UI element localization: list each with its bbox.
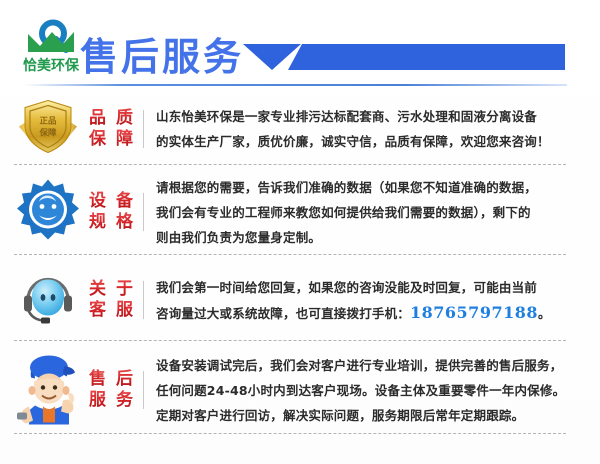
section-label-equipment: 设 备 规 格 [88, 172, 136, 252]
section-label-service: 关 于 客 服 [88, 262, 136, 338]
gold-shield-quality-icon: 正品 保障 [12, 96, 84, 162]
section-label-line-2: 客 服 [89, 300, 135, 321]
section-body-equipment: 请根据您的需要，告诉我们准确的数据（如果您不知道准确的数据， 我们会有专业的工程… [156, 172, 568, 252]
section-label-line-1: 设 备 [89, 191, 135, 212]
section-label-line-2: 服 务 [89, 390, 135, 411]
section-equipment-spec: 设 备 规 格 请根据您的需要，告诉我们准确的数据（如果您不知道准确的数据， 我… [0, 172, 600, 252]
label-text-divider [143, 281, 144, 319]
section-divider [14, 164, 566, 165]
logo-company-name: 恰美环保 [14, 56, 88, 76]
section-divider [14, 340, 566, 341]
phone-suffix: 。 [538, 306, 551, 321]
label-text-divider [143, 110, 144, 148]
body-line: 我们会有专业的工程师来教您如何提供给我们需要的数据），剩下的 [156, 200, 568, 225]
section-label-line-1: 关 于 [89, 279, 135, 300]
contact-phone-number[interactable]: 18765797188 [410, 303, 538, 322]
blue-accent-bar [288, 44, 565, 70]
body-line: 定期对客户进行回访，解决实际问题，服务期限后常年定期跟踪。 [156, 403, 568, 428]
body-line: 请根据您的需要，告诉我们准确的数据（如果您不知道准确的数据， [156, 175, 568, 200]
headset-customer-service-icon [12, 262, 84, 338]
svg-text:正品: 正品 [39, 117, 57, 127]
worker-thumbs-up-icon [12, 348, 84, 432]
section-divider [14, 433, 566, 434]
section-body-service: 我们会第一时间给您回复，如果您的咨询没能及时回复，可能由当前 咨询量过大或系统故… [156, 262, 568, 338]
page-title: 售后服务 [80, 26, 244, 81]
section-body-after-sales: 设备安装调试完后，我们会对客户进行专业培训，提供完善的售后服务， 任何问题24-… [156, 348, 568, 432]
section-label-after-sales: 售 后 服 务 [88, 348, 136, 432]
body-line-text: 咨询量过大或系统故障，也可直接拨打手机： [156, 306, 410, 321]
section-body-quality: 山东怡美环保是一家专业排污达标配套商、污水处理和固液分离设备 的实体生产厂家，质… [156, 96, 568, 162]
body-line: 山东怡美环保是一家专业排污达标配套商、污水处理和固液分离设备 [156, 104, 568, 129]
label-text-divider [143, 193, 144, 231]
section-divider [14, 254, 566, 255]
body-line: 任何问题24-48小时内到达客户现场。设备主体及重要零件一年内保修。 [156, 378, 568, 403]
section-label-line-2: 保 障 [89, 129, 135, 150]
body-line: 设备安装调试完后，我们会对客户进行专业培训，提供完善的售后服务， [156, 353, 568, 378]
label-text-divider [143, 371, 144, 409]
section-label-line-1: 售 后 [89, 369, 135, 390]
company-logo: 恰美环保 [14, 12, 88, 80]
section-label-line-2: 规 格 [89, 212, 135, 233]
page-header: 恰美环保 售后服务 [0, 0, 600, 92]
section-customer-service: 关 于 客 服 我们会第一时间给您回复，如果您的咨询没能及时回复，可能由当前 咨… [0, 262, 600, 338]
header-underline [24, 84, 567, 86]
section-quality-guarantee: 正品 保障 品 质 保 障 山东怡美环保是一家专业排污达标配套商、污水处理和固液… [0, 96, 600, 162]
svg-text:保障: 保障 [38, 128, 57, 139]
after-sales-service-banner: 恰美环保 售后服务 [0, 0, 600, 464]
section-after-sales: 售 后 服 务 设备安装调试完后，我们会对客户进行专业培训，提供完善的售后服务，… [0, 348, 600, 432]
section-label-line-1: 品 质 [89, 108, 135, 129]
qm-monogram-logo-icon [20, 12, 82, 56]
body-line: 我们会第一时间给您回复，如果您的咨询没能及时回复，可能由当前 [156, 275, 568, 300]
section-label-quality: 品 质 保 障 [88, 96, 136, 162]
body-line: 的实体生产厂家，质优价廉，诚实守信，品质有保障，欢迎您来咨询！ [156, 129, 568, 154]
blue-gear-specification-icon [12, 172, 84, 252]
body-line-with-phone: 咨询量过大或系统故障，也可直接拨打手机：18765797188。 [156, 300, 568, 326]
body-line: 则由我们负责为您量身定制。 [156, 225, 568, 250]
